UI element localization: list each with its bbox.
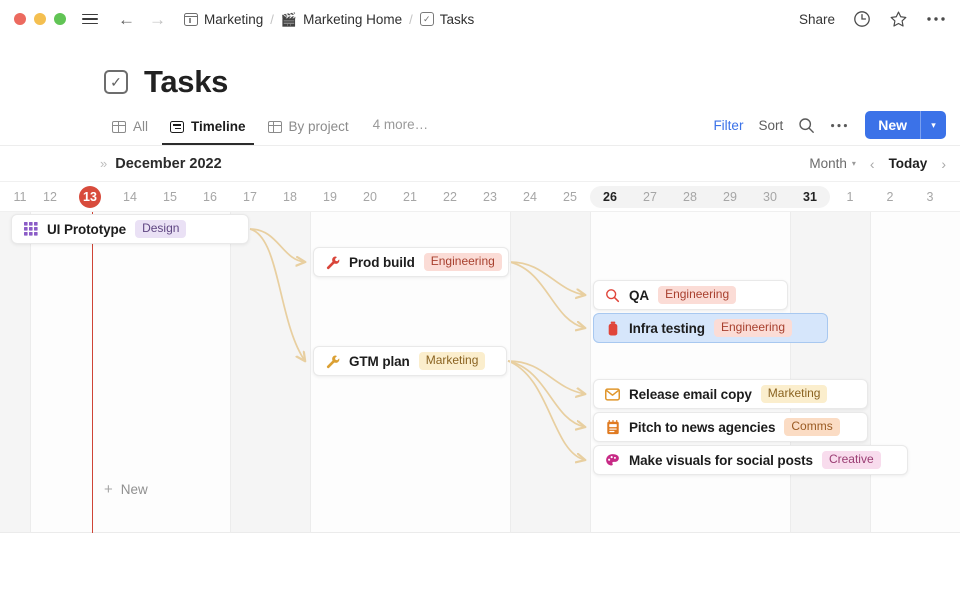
timeline-nav: Month ▾ ‹ Today › <box>809 156 946 172</box>
date-cell[interactable]: 3 <box>910 182 950 212</box>
grid-icon <box>268 121 282 133</box>
date-cell[interactable]: 16 <box>190 182 230 212</box>
date-cell[interactable]: 22 <box>430 182 470 212</box>
card-tag: Engineering <box>424 253 502 271</box>
grid-squares-icon <box>23 222 38 237</box>
weekend-band <box>230 212 310 533</box>
nav-arrows: ← → <box>118 11 166 28</box>
date-cell[interactable]: 27 <box>630 182 670 212</box>
timeline-card[interactable]: QAEngineering <box>593 280 788 310</box>
page-title: Tasks <box>144 64 228 100</box>
date-cell[interactable]: 14 <box>110 182 150 212</box>
column-divider <box>510 212 511 533</box>
share-button[interactable]: Share <box>799 12 835 27</box>
timeline-today-button[interactable]: Today <box>889 156 928 171</box>
timeline-card[interactable]: Prod buildEngineering <box>313 247 509 277</box>
canister-icon <box>605 321 620 336</box>
breadcrumb-separator: / <box>270 12 274 27</box>
window-icon <box>184 13 198 26</box>
date-cell[interactable]: 25 <box>550 182 590 212</box>
weekend-band <box>0 212 30 533</box>
more-icon[interactable] <box>926 16 946 22</box>
timeline-card[interactable]: Make visuals for social postsCreative <box>593 445 908 475</box>
timeline-card[interactable]: Infra testingEngineering <box>593 313 828 343</box>
add-new-row-button[interactable]: +New <box>104 482 148 497</box>
maximize-window-button[interactable] <box>54 13 66 25</box>
checkbox-icon: ✓ <box>420 12 434 26</box>
card-title: Infra testing <box>629 321 705 336</box>
new-button-label: New <box>865 111 920 139</box>
timeline-scale-label: Month <box>809 156 847 171</box>
plus-icon: + <box>104 482 113 497</box>
column-divider <box>230 212 231 533</box>
more-icon[interactable] <box>830 123 848 128</box>
close-window-button[interactable] <box>14 13 26 25</box>
filter-button[interactable]: Filter <box>713 118 743 133</box>
column-divider <box>790 212 791 533</box>
timeline-next-button[interactable]: › <box>941 156 946 172</box>
date-cell-today[interactable]: 13 <box>79 186 101 208</box>
breadcrumb-label: Marketing <box>204 12 263 27</box>
clapperboard-icon: 🎬 <box>281 13 297 26</box>
timeline-scale-select[interactable]: Month ▾ <box>809 156 856 171</box>
column-divider <box>870 212 871 533</box>
card-title: Release email copy <box>629 387 752 402</box>
card-tag: Marketing <box>419 352 486 370</box>
date-cell[interactable]: 17 <box>230 182 270 212</box>
date-cell[interactable]: 28 <box>670 182 710 212</box>
palette-icon <box>605 453 620 468</box>
timeline-card[interactable]: Pitch to news agenciesComms <box>593 412 868 442</box>
chevron-down-icon[interactable]: ▾ <box>920 111 946 139</box>
page-header: ✓ Tasks <box>0 38 960 100</box>
canvas-bottom-border <box>0 532 960 533</box>
date-cell[interactable]: 21 <box>390 182 430 212</box>
titlebar-actions: Share <box>799 10 946 29</box>
history-icon[interactable] <box>853 10 871 28</box>
date-cell[interactable]: 23 <box>470 182 510 212</box>
card-title: UI Prototype <box>47 222 126 237</box>
card-title: Prod build <box>349 255 415 270</box>
date-cell[interactable]: 24 <box>510 182 550 212</box>
column-divider <box>310 212 311 533</box>
date-cell[interactable]: 15 <box>150 182 190 212</box>
weekend-band <box>510 212 590 533</box>
date-cell[interactable]: 30 <box>750 182 790 212</box>
breadcrumb: Marketing / 🎬 Marketing Home / ✓ Tasks <box>184 12 474 27</box>
envelope-icon <box>605 387 620 402</box>
date-cell[interactable]: 29 <box>710 182 750 212</box>
column-divider <box>30 212 31 533</box>
date-cell[interactable]: 26 <box>590 182 630 212</box>
card-title: Pitch to news agencies <box>629 420 775 435</box>
card-tag: Design <box>135 220 186 238</box>
timeline-card[interactable]: GTM planMarketing <box>313 346 507 376</box>
date-cell[interactable]: 19 <box>310 182 350 212</box>
date-cell[interactable]: 2 <box>870 182 910 212</box>
timeline-date-strip: 1112131415161718192021222324252627282930… <box>0 182 960 212</box>
tab-timeline[interactable]: Timeline <box>162 118 254 145</box>
minimize-window-button[interactable] <box>34 13 46 25</box>
timeline-prev-button[interactable]: ‹ <box>870 156 875 172</box>
card-tag: Marketing <box>761 385 828 403</box>
add-new-row-label: New <box>121 482 148 497</box>
newspaper-icon <box>605 420 620 435</box>
breadcrumb-label: Marketing Home <box>303 12 402 27</box>
breadcrumb-item-marketing[interactable]: Marketing <box>184 12 263 27</box>
forward-icon[interactable]: → <box>149 11 166 28</box>
today-marker-line <box>92 212 93 533</box>
tab-by-project[interactable]: By project <box>260 118 357 145</box>
traffic-lights <box>14 13 66 25</box>
tabs-more-button[interactable]: 4 more… <box>363 117 437 145</box>
timeline-icon <box>170 121 184 133</box>
checkbox-icon: ✓ <box>104 70 128 94</box>
weekend-band <box>790 212 870 533</box>
card-title: Make visuals for social posts <box>629 453 813 468</box>
date-cell[interactable]: 12 <box>30 182 70 212</box>
timeline-canvas[interactable]: UI PrototypeDesignProd buildEngineeringG… <box>0 212 960 533</box>
date-cell[interactable]: 20 <box>350 182 390 212</box>
card-tag: Engineering <box>714 319 792 337</box>
card-tag: Creative <box>822 451 881 469</box>
magnifier-icon <box>605 288 620 303</box>
tab-label: By project <box>289 120 349 134</box>
breadcrumb-label: Tasks <box>440 12 475 27</box>
chevron-down-icon: ▾ <box>852 159 856 168</box>
card-tag: Comms <box>784 418 839 436</box>
search-icon[interactable] <box>798 117 815 134</box>
card-title: QA <box>629 288 649 303</box>
wrench-icon <box>325 255 340 270</box>
star-icon[interactable] <box>889 10 908 29</box>
tab-label: Timeline <box>191 120 246 134</box>
view-tabs-bar: All Timeline By project 4 more… Filter S… <box>0 100 960 146</box>
tab-all[interactable]: All <box>104 118 156 145</box>
breadcrumb-item-tasks[interactable]: ✓ Tasks <box>420 12 475 27</box>
wrench-icon <box>325 354 340 369</box>
grid-icon <box>112 121 126 133</box>
window-titlebar: ← → Marketing / 🎬 Marketing Home / ✓ Tas… <box>0 0 960 38</box>
breadcrumb-separator: / <box>409 12 413 27</box>
timeline-month-label: December 2022 <box>115 156 221 172</box>
new-button[interactable]: New ▾ <box>865 111 946 139</box>
date-cell[interactable]: 18 <box>270 182 310 212</box>
card-tag: Engineering <box>658 286 736 304</box>
column-divider <box>590 212 591 533</box>
view-actions: Filter Sort New ▾ <box>713 111 946 152</box>
card-title: GTM plan <box>349 354 410 369</box>
double-chevron-right-icon[interactable]: » <box>100 156 105 171</box>
date-cell[interactable]: 31 <box>790 182 830 212</box>
timeline-card[interactable]: UI PrototypeDesign <box>11 214 249 244</box>
view-tabs: All Timeline By project 4 more… <box>104 118 436 145</box>
timeline-card[interactable]: Release email copyMarketing <box>593 379 868 409</box>
page-title-row: ✓ Tasks <box>0 38 960 100</box>
tab-label: All <box>133 120 148 134</box>
sort-button[interactable]: Sort <box>758 118 783 133</box>
hamburger-icon[interactable] <box>82 14 98 25</box>
back-icon[interactable]: ← <box>118 11 135 28</box>
date-cell[interactable]: 1 <box>830 182 870 212</box>
breadcrumb-item-marketing-home[interactable]: 🎬 Marketing Home <box>281 12 402 27</box>
